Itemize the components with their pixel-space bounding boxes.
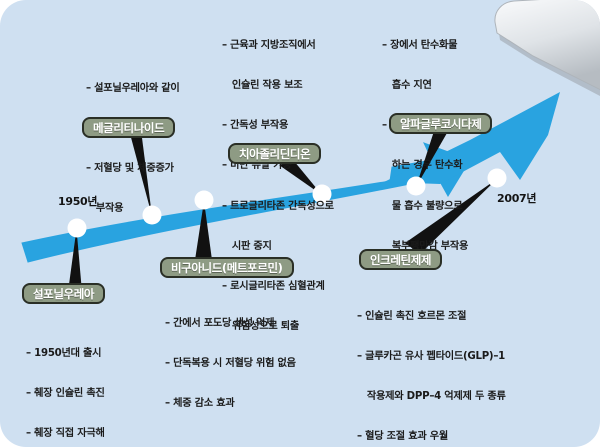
infographic-canvas: 1950년 2007년 설포닐우레아 메글리티나이드 비구아니드(메트포르민) … [0,0,600,447]
bullet-line: – 트로글리타존 간독성으로 [222,200,334,213]
bullet-line: 물 흡수 불량으로 [382,200,468,213]
label-pill-incretin[interactable]: 인크레틴제제 [359,249,442,270]
bullet-line: – 로시글리타존 심혈관계 [222,280,334,293]
year-label-end: 2007년 [497,190,536,206]
bullet-line: 하는 경우 탄수화 [382,159,468,172]
description-sulfonylurea: – 1950년대 출시 – 췌장 인슐린 촉진 – 췌장 직접 자극해 제2형 … [26,320,106,447]
bullet-line: 인슐린 작용 보조 [222,79,334,92]
description-meglitinide: – 설포닐우레아와 같이 인슐린 분비 촉진 – 저혈당 및 체중증가 부작용 [86,55,180,243]
bullet-line: – 인슐린 촉진 호르몬 조절 [357,310,506,323]
bullet-line: 작용제와 DPP–4 억제제 두 종류 [357,390,506,403]
label-pill-sulfonylurea[interactable]: 설포닐우레아 [22,283,105,304]
bullet-line: 흡수 지연 [382,79,468,92]
bullet-line: – 1950년대 출시 [26,347,106,360]
description-incretin: – 인슐린 촉진 호르몬 조절 – 글루카곤 유사 펩타이드(GLP)–1 작용… [357,283,506,447]
label-pill-meglitinide[interactable]: 메글리티나이드 [82,117,175,138]
bullet-line: – 저혈당 및 체중증가 [86,162,180,175]
bullet-line: 시판 중지 [222,240,334,253]
label-pill-biguanide[interactable]: 비구아니드(메트포르민) [160,257,294,278]
label-pill-alpha-glucosidase[interactable]: 알파글루코시다제 [389,113,492,134]
folded-corner [495,0,600,96]
description-alpha-glucosidase: – 장에서 탄수화물 흡수 지연 – 고탄수화물 섭취 하는 경우 탄수화 물 … [382,12,468,280]
bullet-line: – 설포닐우레아와 같이 [86,82,180,95]
timeline-dot-sulfonylurea [68,219,87,238]
bullet-line: 위험성으로 퇴출 [222,320,334,333]
label-pill-thiazolidinedione[interactable]: 치아졸리딘디온 [228,143,321,164]
description-thiazolidinedione: – 근육과 지방조직에서 인슐린 작용 보조 – 간독성 부작용 – 비만 유발… [222,12,334,361]
timeline-dot-incretin [488,169,507,188]
bullet-line: – 췌장 직접 자극해 [26,427,106,440]
bullet-line: – 체중 감소 효과 [165,397,296,410]
timeline-dot-biguanide [195,191,214,210]
bullet-line: – 근육과 지방조직에서 [222,39,334,52]
bullet-line: – 간독성 부작용 [222,119,334,132]
bullet-line: – 췌장 인슐린 촉진 [26,387,106,400]
bullet-line: – 장에서 탄수화물 [382,39,468,52]
bullet-line: – 혈당 조절 효과 우월 [357,430,506,443]
bullet-line: 부작용 [86,202,180,215]
bullet-line: – 글루카곤 유사 펩타이드(GLP)–1 [357,350,506,363]
